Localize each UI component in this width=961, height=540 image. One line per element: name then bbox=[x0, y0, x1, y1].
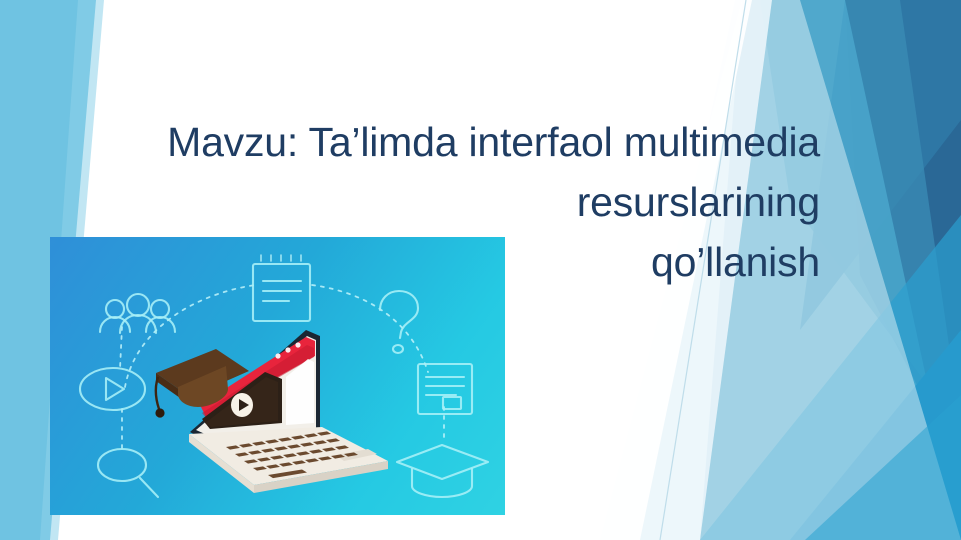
connector-arc-right bbox=[312, 285, 428, 372]
title-line-2: resurslarining bbox=[60, 172, 820, 232]
right-dark-wedge-2 bbox=[800, 0, 961, 330]
graduation-cap-icon bbox=[397, 445, 488, 497]
notepad-icon bbox=[253, 255, 310, 321]
browser-dot-1 bbox=[275, 353, 280, 358]
slide-picture bbox=[50, 237, 505, 515]
browser-dot-3 bbox=[295, 342, 300, 347]
title-line-1: Mavzu: Ta’limda interfaol multimedia bbox=[60, 112, 820, 172]
browser-dot-2 bbox=[285, 347, 290, 352]
people-group-icon bbox=[100, 294, 175, 333]
video-play-icon bbox=[231, 393, 253, 417]
form-document-icon bbox=[418, 364, 472, 414]
question-mark-icon bbox=[380, 291, 418, 353]
right-dark-wedge bbox=[845, 0, 961, 470]
elearning-illustration bbox=[50, 237, 505, 515]
magnifier-icon bbox=[98, 449, 158, 497]
cap-tassel-knot bbox=[155, 408, 164, 417]
laptop-illustration bbox=[155, 330, 388, 493]
presentation-slide: Mavzu: Ta’limda interfaol multimedia res… bbox=[0, 0, 961, 540]
bottom-light-triangle bbox=[805, 395, 961, 540]
right-bright-wedge bbox=[790, 330, 961, 540]
play-circle-icon bbox=[80, 368, 145, 410]
